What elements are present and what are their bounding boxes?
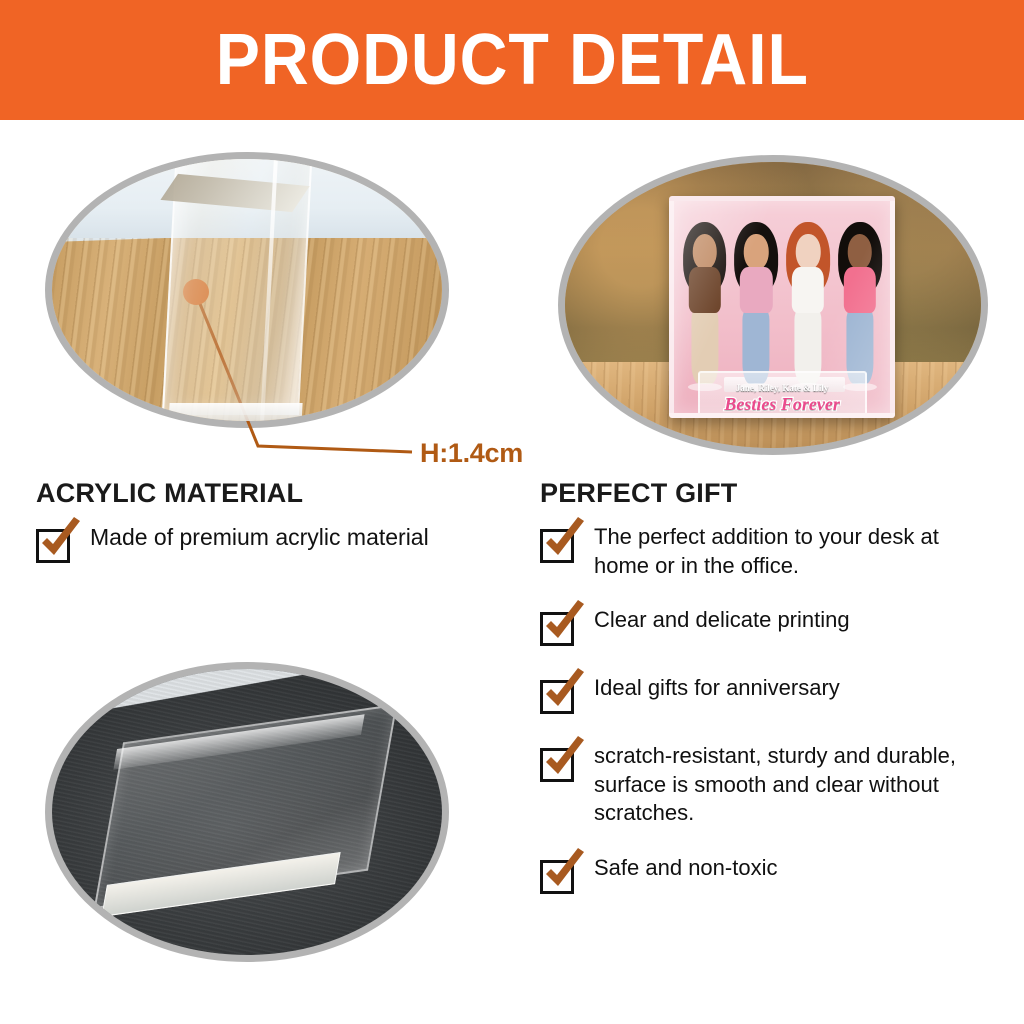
feature-text: Clear and delicate printing [594,606,850,635]
figurine-top [792,267,824,313]
check-mark-icon [34,515,86,567]
figurine-head [692,234,717,270]
product-nameplate: Jane, Riley, Kate & Lily Besties Forever [698,371,867,418]
feature-text: scratch-resistant, sturdy and durable, s… [594,742,994,828]
nameplate-title: Besties Forever [724,395,839,413]
checkbox-checked-icon [540,608,580,648]
figurine-head [848,234,873,270]
check-mark-icon [538,846,590,898]
check-mark-icon [538,598,590,650]
perfect-gift-section: PERFECT GIFT The perfect addition to you… [540,478,1010,922]
feature-item: Ideal gifts for anniversary [540,674,1010,716]
figurine-head [744,234,769,270]
feature-item: scratch-resistant, sturdy and durable, s… [540,742,1010,828]
figurine-riley [734,222,778,387]
check-mark-icon [538,734,590,786]
checkbox-checked-icon [540,856,580,896]
slate-background [52,669,442,955]
checkbox-checked-icon [540,676,580,716]
wood-table-background [52,159,442,421]
nameplate-names: Jane, Riley, Kate & Lily [736,384,829,393]
checkbox-checked-icon [540,525,580,565]
feature-item: Clear and delicate printing [540,606,1010,648]
figurine-jane [683,222,727,387]
feature-text: The perfect addition to your desk at hom… [594,523,994,580]
acrylic-material-section: ACRYLIC MATERIAL Made of premium acrylic… [36,478,536,591]
product-photo-oval: Jane, Riley, Kate & Lily Besties Forever [558,155,988,455]
figurine-kate [786,222,830,387]
feature-item: Made of premium acrylic material [36,523,536,565]
feature-text: Ideal gifts for anniversary [594,674,840,703]
figurine-top [844,267,876,313]
figurine-top [688,267,720,313]
section-title-perfect-gift: PERFECT GIFT [540,478,1010,509]
figurine-top [740,267,772,313]
slab-photo-oval [45,662,449,962]
acrylic-display-box: Jane, Riley, Kate & Lily Besties Forever [669,196,895,418]
figurine-head [796,234,821,270]
figurine-group [683,222,882,387]
thickness-photo-oval [45,152,449,428]
checkbox-checked-icon [540,744,580,784]
section-title-acrylic-material: ACRYLIC MATERIAL [36,478,536,509]
bokeh-background: Jane, Riley, Kate & Lily Besties Forever [565,162,981,448]
feature-item: The perfect addition to your desk at hom… [540,523,1010,580]
feature-item: Safe and non-toxic [540,854,1010,896]
check-mark-icon [538,515,590,567]
product-detail-infographic: PRODUCT DETAIL H:1.4cm [0,0,1024,1024]
acrylic-bottom-edge [168,403,302,427]
checkbox-checked-icon [36,525,76,565]
feature-text: Made of premium acrylic material [90,523,429,553]
figurine-lily [838,222,882,387]
check-mark-icon [538,666,590,718]
feature-text: Safe and non-toxic [594,854,777,883]
thickness-label: H:1.4cm [420,438,523,469]
header-banner: PRODUCT DETAIL [0,0,1024,120]
page-title: PRODUCT DETAIL [215,24,808,96]
